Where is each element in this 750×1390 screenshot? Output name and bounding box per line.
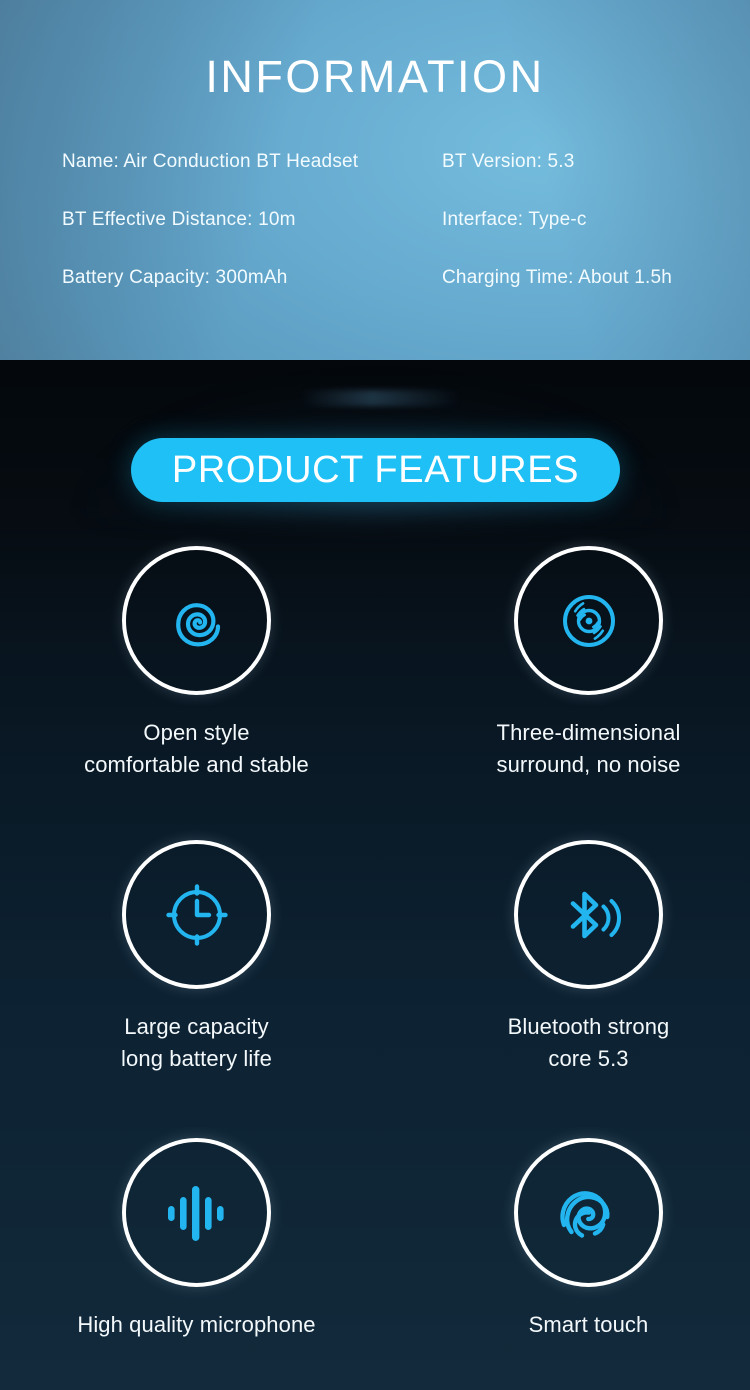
spec-bt-distance: BT Effective Distance: 10m — [0, 210, 380, 268]
feature-label: Open style comfortable and stable — [84, 717, 309, 781]
feature-row: Large capacity long battery life Bluetoo… — [0, 840, 750, 1138]
spiral-icon — [162, 586, 232, 656]
icon-circle — [122, 546, 271, 695]
spec-name: Name: Air Conduction BT Headset — [0, 152, 380, 210]
fingerprint-icon — [554, 1178, 624, 1248]
feature-label: Smart touch — [529, 1309, 649, 1341]
vinyl-record-icon — [555, 587, 623, 655]
product-features-section: PRODUCT FEATURES Open style comfortable … — [0, 360, 750, 1390]
product-features-banner-label: PRODUCT FEATURES — [172, 451, 579, 489]
icon-circle — [122, 840, 271, 989]
feature-row: High quality microphone S — [0, 1138, 750, 1378]
spec-battery-capacity: Battery Capacity: 300mAh — [0, 268, 380, 326]
specification-grid: Name: Air Conduction BT Headset BT Versi… — [0, 152, 750, 326]
feature-item-open-style: Open style comfortable and stable — [0, 546, 375, 840]
feature-label: Three-dimensional surround, no noise — [496, 717, 680, 781]
feature-grid: Open style comfortable and stable — [0, 546, 750, 1378]
feature-row: Open style comfortable and stable — [0, 546, 750, 840]
information-section: INFORMATION Name: Air Conduction BT Head… — [0, 0, 750, 360]
feature-item-surround: Three-dimensional surround, no noise — [375, 546, 750, 840]
product-detail-page: INFORMATION Name: Air Conduction BT Head… — [0, 0, 750, 1390]
spec-row: BT Effective Distance: 10m Interface: Ty… — [0, 210, 750, 268]
information-title: INFORMATION — [0, 54, 750, 99]
feature-label: Large capacity long battery life — [121, 1011, 272, 1075]
spec-charging-time: Charging Time: About 1.5h — [380, 268, 750, 326]
feature-label: High quality microphone — [77, 1309, 315, 1341]
feature-item-bluetooth: Bluetooth strong core 5.3 — [375, 840, 750, 1138]
spec-row: Name: Air Conduction BT Headset BT Versi… — [0, 152, 750, 210]
feature-label: Bluetooth strong core 5.3 — [508, 1011, 670, 1075]
icon-circle — [122, 1138, 271, 1287]
icon-circle — [514, 1138, 663, 1287]
spec-row: Battery Capacity: 300mAh Charging Time: … — [0, 268, 750, 326]
feature-item-smart-touch: Smart touch — [375, 1138, 750, 1378]
clock-icon — [162, 880, 232, 950]
icon-circle — [514, 840, 663, 989]
waveform-icon — [164, 1180, 230, 1246]
icon-circle — [514, 546, 663, 695]
feature-item-battery-life: Large capacity long battery life — [0, 840, 375, 1138]
product-highlight-streak — [300, 390, 460, 406]
feature-item-microphone: High quality microphone — [0, 1138, 375, 1378]
spec-bt-version: BT Version: 5.3 — [380, 152, 750, 210]
spec-interface: Interface: Type-c — [380, 210, 750, 268]
bluetooth-icon — [551, 877, 627, 953]
product-features-banner: PRODUCT FEATURES — [131, 438, 620, 502]
